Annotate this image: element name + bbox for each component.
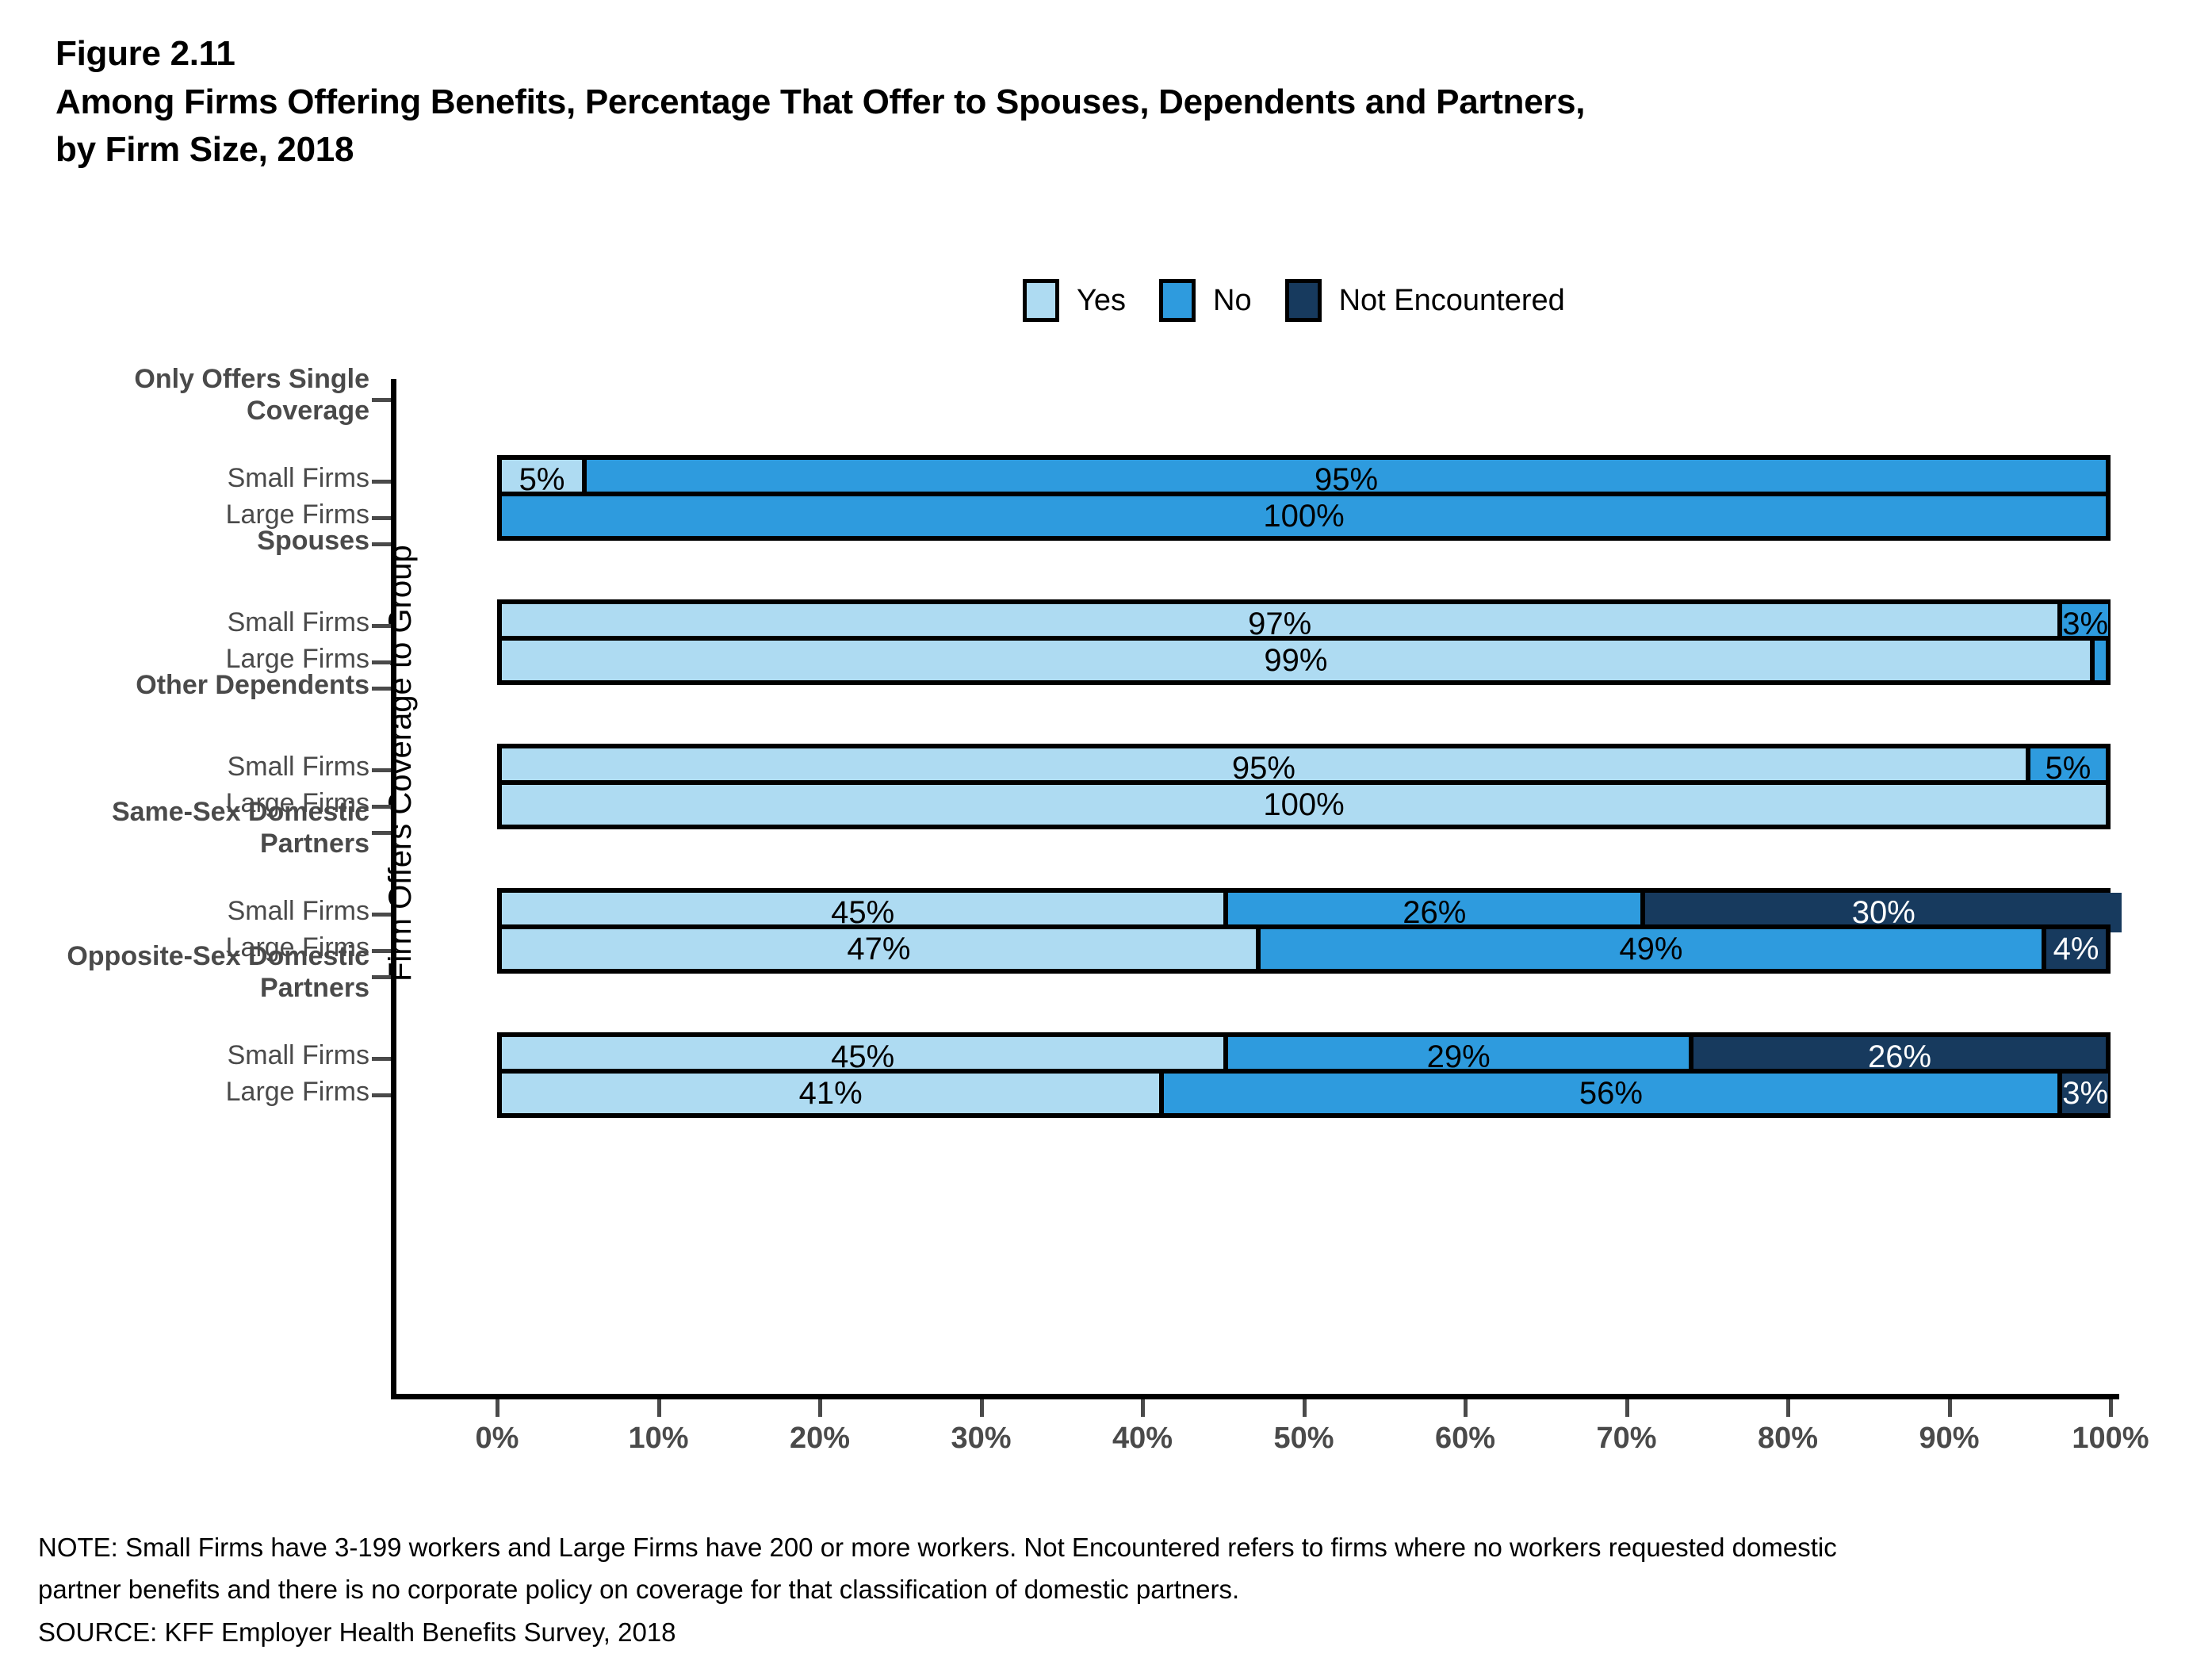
- bar-segment-no[interactable]: 56%: [1159, 1074, 2057, 1113]
- x-tick-mark: [1625, 1399, 1629, 1417]
- bar-segment-no[interactable]: 49%: [1256, 929, 2042, 969]
- x-tick-mark: [1948, 1399, 1952, 1417]
- bar-segment-yes[interactable]: 41%: [502, 1074, 1159, 1113]
- bar-value-label: 47%: [847, 932, 910, 967]
- y-tick-mark: [372, 805, 391, 809]
- bar-segment-no[interactable]: [2090, 641, 2106, 680]
- chart-legend: YesNoNot Encountered: [1023, 279, 1598, 322]
- legend-item-no: No: [1159, 279, 1252, 322]
- bar-segment-not-encountered[interactable]: 4%: [2042, 929, 2106, 969]
- y-tick-mark: [372, 516, 391, 520]
- legend-swatch-yes: [1023, 279, 1059, 322]
- y-row-label-small-firms: Small Firms: [14, 1039, 385, 1071]
- legend-item-yes: Yes: [1023, 279, 1126, 322]
- chart-plot-area: Firm Offers Coverage to Group Only Offer…: [391, 379, 2119, 1394]
- figure-title-line-2: by Firm Size, 2018: [55, 126, 2117, 174]
- y-tick-mark: [372, 949, 391, 953]
- figure-title-block: Figure 2.11 Among Firms Offering Benefit…: [55, 30, 2117, 174]
- y-tick-mark: [372, 831, 391, 835]
- stacked-bars-layer: 5%95%100%97%3%99%95%5%100%45%26%30%47%49…: [497, 379, 2111, 1394]
- x-tick-mark: [1464, 1399, 1468, 1417]
- x-tick-label: 10%: [628, 1422, 688, 1456]
- legend-item-not-encountered: Not Encountered: [1285, 279, 1565, 322]
- y-tick-mark: [372, 975, 391, 979]
- y-tick-mark: [372, 542, 391, 546]
- bar-segment-yes[interactable]: 47%: [502, 929, 1256, 969]
- stacked-bar: 100%: [497, 780, 2111, 829]
- stacked-bar: 47%49%4%: [497, 924, 2111, 974]
- source-line: SOURCE: KFF Employer Health Benefits Sur…: [38, 1611, 2131, 1653]
- y-tick-mark: [372, 1093, 391, 1097]
- y-tick-mark: [372, 768, 391, 772]
- y-group-label: Same-Sex Domestic Partners: [14, 796, 385, 859]
- stacked-bar: 100%: [497, 492, 2111, 541]
- legend-label: Not Encountered: [1339, 284, 1565, 318]
- x-tick-label: 100%: [2072, 1422, 2149, 1456]
- stacked-bar: 99%: [497, 636, 2111, 685]
- x-tick-mark: [1141, 1399, 1145, 1417]
- y-tick-mark: [372, 913, 391, 917]
- y-group-label: Only Offers Single Coverage: [14, 363, 385, 427]
- x-tick-label: 50%: [1273, 1422, 1334, 1456]
- x-tick-mark: [657, 1399, 661, 1417]
- bar-value-label: 100%: [1263, 499, 1344, 534]
- y-axis-labels: Only Offers Single CoverageSmall FirmsLa…: [14, 379, 385, 1394]
- legend-swatch-no: [1159, 279, 1196, 322]
- x-tick-label: 90%: [1919, 1422, 1979, 1456]
- y-group-label: Other Dependents: [14, 669, 385, 701]
- bar-value-label: 99%: [1264, 643, 1327, 679]
- x-tick-label: 80%: [1758, 1422, 1818, 1456]
- bar-value-label: 56%: [1579, 1076, 1643, 1112]
- bar-segment-no[interactable]: 100%: [502, 496, 2106, 536]
- y-row-label-small-firms: Small Firms: [14, 462, 385, 494]
- bar-segment-not-encountered[interactable]: 3%: [2057, 1074, 2108, 1113]
- y-tick-mark: [372, 660, 391, 664]
- x-tick-label: 60%: [1435, 1422, 1495, 1456]
- x-tick-label: 70%: [1596, 1422, 1656, 1456]
- bar-value-label: 49%: [1619, 932, 1682, 967]
- x-tick-label: 0%: [476, 1422, 519, 1456]
- y-row-label-small-firms: Small Firms: [14, 751, 385, 783]
- note-line-2: partner benefits and there is no corpora…: [38, 1568, 2131, 1610]
- x-tick-mark: [496, 1399, 499, 1417]
- x-axis-ticks: 0%10%20%30%40%50%60%70%80%90%100%: [497, 1399, 2111, 1471]
- bar-value-label: 41%: [799, 1076, 863, 1112]
- figure-footnotes: NOTE: Small Firms have 3-199 workers and…: [38, 1526, 2131, 1653]
- x-tick-label: 30%: [951, 1422, 1011, 1456]
- x-axis-line: [391, 1394, 2119, 1399]
- y-tick-mark: [372, 398, 391, 402]
- legend-label: Yes: [1077, 284, 1126, 318]
- y-tick-mark: [372, 687, 391, 691]
- figure-title-line-1: Among Firms Offering Benefits, Percentag…: [55, 78, 2117, 127]
- bar-segment-yes[interactable]: 99%: [502, 641, 2090, 680]
- x-tick-label: 40%: [1112, 1422, 1173, 1456]
- figure-number: Figure 2.11: [55, 30, 2117, 78]
- x-tick-mark: [980, 1399, 984, 1417]
- x-tick-mark: [1303, 1399, 1307, 1417]
- x-tick-label: 20%: [790, 1422, 850, 1456]
- bar-value-label: 100%: [1263, 787, 1344, 823]
- x-tick-mark: [1786, 1399, 1790, 1417]
- x-tick-mark: [2109, 1399, 2113, 1417]
- bar-segment-yes[interactable]: 100%: [502, 785, 2106, 825]
- y-row-label-large-firms: Large Firms: [14, 1076, 385, 1108]
- stacked-bar: 41%56%3%: [497, 1069, 2111, 1118]
- legend-label: No: [1213, 284, 1252, 318]
- note-line-1: NOTE: Small Firms have 3-199 workers and…: [38, 1526, 2131, 1568]
- y-group-label: Spouses: [14, 525, 385, 557]
- y-row-label-small-firms: Small Firms: [14, 607, 385, 638]
- y-tick-mark: [372, 624, 391, 628]
- y-tick-mark: [372, 480, 391, 484]
- bar-value-label: 3%: [2062, 1076, 2108, 1112]
- y-group-label: Opposite-Sex Domestic Partners: [14, 940, 385, 1004]
- y-tick-mark: [372, 1057, 391, 1061]
- y-row-label-small-firms: Small Firms: [14, 895, 385, 927]
- legend-swatch-not-encountered: [1285, 279, 1322, 322]
- bar-value-label: 4%: [2053, 932, 2099, 967]
- x-tick-mark: [818, 1399, 822, 1417]
